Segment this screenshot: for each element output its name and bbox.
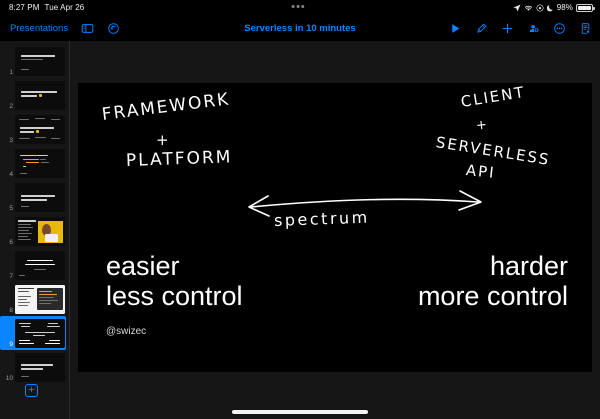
app-toolbar: Presentations Serverless in 10 minutes [0, 15, 600, 41]
rotation-lock-icon [536, 4, 544, 12]
slide-thumbnail-preview [15, 353, 65, 382]
slide-thumbnail-6[interactable]: 6 [0, 214, 69, 248]
slide-thumbnail-3[interactable]: 3 [0, 112, 69, 146]
app-content: 1 2 3 [0, 41, 600, 419]
slide-number-label: 6 [2, 239, 15, 248]
slide-thumbnail-5[interactable]: 5 [0, 180, 69, 214]
slide-thumbnail-7[interactable]: 7 [0, 248, 69, 282]
toolbar-right-group [449, 22, 592, 35]
undo-icon[interactable] [107, 22, 120, 35]
slide-number-label: 3 [2, 137, 15, 146]
slide-canvas-area[interactable]: FRAMEWORK + PLATFORM CLIENT + SERVERLESS… [70, 41, 600, 419]
moon-icon [547, 4, 554, 12]
collaborate-person-icon[interactable] [527, 22, 540, 35]
status-bar-date: Tue Apr 26 [45, 3, 85, 12]
slide-thumbnail-preview [15, 285, 65, 314]
more-ellipsis-icon[interactable] [553, 22, 566, 35]
slide-number-label: 2 [2, 103, 15, 112]
slide-thumbnail-preview [15, 81, 65, 110]
toolbar-left-group: Presentations [10, 22, 120, 35]
add-slide-button[interactable]: + [25, 384, 38, 397]
slide-thumbnail-10[interactable]: 10 [0, 350, 69, 384]
slide-thumbnail-4[interactable]: 4 [0, 146, 69, 180]
location-arrow-icon [513, 4, 521, 12]
slide-thumbnail-2[interactable]: 2 [0, 78, 69, 112]
markup-pen-icon[interactable] [475, 22, 488, 35]
slide-number-label: 7 [2, 273, 15, 282]
ios-status-bar: 8:27 PM Tue Apr 26 ••• [0, 0, 600, 15]
slide-thumbnail-preview [15, 319, 65, 348]
back-to-presentations-button[interactable]: Presentations [10, 23, 68, 34]
home-indicator[interactable] [232, 410, 368, 414]
status-bar-right: 98% [513, 3, 600, 12]
slide-watermark: @swizec [106, 326, 146, 337]
format-document-icon[interactable] [579, 22, 592, 35]
status-bar-left: 8:27 PM Tue Apr 26 [0, 3, 84, 12]
slide-text-easier: easier [106, 251, 180, 282]
handwritten-spectrum-label: spectrum [274, 208, 370, 230]
slide-text-less-control: less control [106, 281, 243, 312]
slide-number-label: 1 [2, 69, 15, 78]
keynote-app-window: 8:27 PM Tue Apr 26 ••• [0, 0, 600, 419]
slide-text-harder: harder [490, 251, 568, 282]
slide-thumbnail-preview [15, 217, 65, 246]
battery-icon [576, 4, 593, 12]
slide-thumbnail-preview [15, 183, 65, 212]
slide-number-label: 5 [2, 205, 15, 214]
slide-thumbnail-preview [15, 115, 65, 144]
wifi-icon [524, 4, 533, 12]
slide-thumbnail-9[interactable]: 9 [0, 316, 66, 350]
status-bar-time: 8:27 PM [9, 3, 40, 12]
sidebar-toggle-icon[interactable] [81, 22, 94, 35]
slide-thumbnail-list: 1 2 3 [0, 41, 69, 384]
slide-navigator-sidebar[interactable]: 1 2 3 [0, 41, 70, 419]
current-slide[interactable]: FRAMEWORK + PLATFORM CLIENT + SERVERLESS… [78, 83, 592, 372]
plus-icon[interactable] [501, 22, 514, 35]
battery-percent-label: 98% [557, 3, 573, 12]
status-bar-dynamic-island-dots: ••• [84, 5, 512, 10]
slide-number-label: 9 [2, 341, 15, 350]
slide-thumbnail-1[interactable]: 1 [0, 44, 69, 78]
slide-text-more-control: more control [418, 281, 568, 312]
slide-number-label: 8 [2, 307, 15, 316]
slide-thumbnail-8[interactable]: 8 [0, 282, 69, 316]
slide-thumbnail-preview [15, 47, 65, 76]
slide-thumbnail-preview [15, 251, 65, 280]
slide-number-label: 4 [2, 171, 15, 180]
slide-number-label: 10 [2, 375, 15, 384]
slide-thumbnail-preview [15, 149, 65, 178]
play-icon[interactable] [449, 22, 462, 35]
